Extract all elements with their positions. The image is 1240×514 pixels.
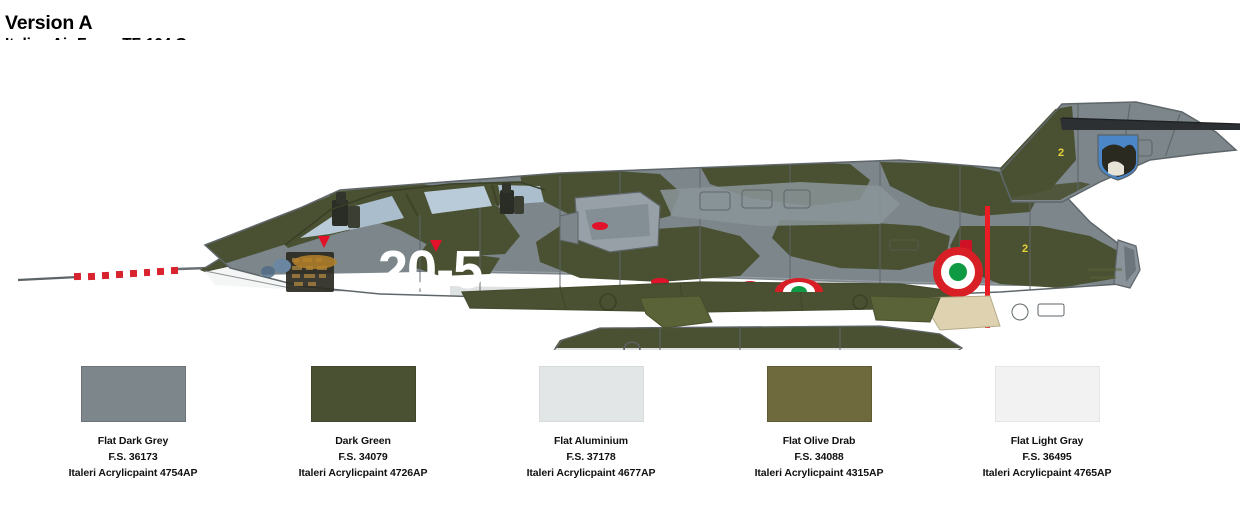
paint-swatch: Dark Green F.S. 34079 Italeri Acrylicpai… (268, 366, 458, 506)
stencil-number-1: 2 (1058, 147, 1064, 159)
paint-fs-code: F.S. 34079 (299, 450, 428, 466)
paint-fs-code: F.S. 36173 (69, 450, 198, 466)
color-chip (311, 366, 416, 422)
stencil-number-2: 2 (1022, 243, 1028, 255)
paint-name: Flat Olive Drab (755, 434, 884, 450)
paint-name: Dark Green (299, 434, 428, 450)
paint-swatch: Flat Dark Grey F.S. 36173 Italeri Acryli… (38, 366, 228, 506)
paint-product-code: Italeri Acrylicpaint 4726AP (299, 466, 428, 482)
color-chip (539, 366, 644, 422)
version-title: Version A (5, 12, 326, 35)
drop-tank (540, 326, 962, 350)
paint-name: Flat Dark Grey (69, 434, 198, 450)
paint-fs-code: F.S. 37178 (527, 450, 656, 466)
paint-swatch-row: Flat Dark Grey F.S. 36173 Italeri Acryli… (0, 366, 1240, 506)
paint-fs-code: F.S. 36495 (983, 450, 1112, 466)
national-roundel (933, 247, 983, 297)
aircraft-profile-illustration: 20-5 2 2 2 (0, 40, 1240, 350)
paint-product-code: Italeri Acrylicpaint 4315AP (755, 466, 884, 482)
fuselage-code: 20-5 (378, 240, 482, 300)
squadron-crest (1098, 135, 1138, 180)
fuselage-code-text: 20-5 (378, 240, 482, 300)
paint-fs-code: F.S. 34088 (755, 450, 884, 466)
color-chip (995, 366, 1100, 422)
paint-product-code: Italeri Acrylicpaint 4677AP (527, 466, 656, 482)
paint-product-code: Italeri Acrylicpaint 4754AP (69, 466, 198, 482)
paint-swatch: Flat Olive Drab F.S. 34088 Italeri Acryl… (724, 366, 914, 506)
painting-guide-page: Version A Italian Air Force TF-104 G 20°… (0, 0, 1240, 514)
paint-swatch: Flat Light Gray F.S. 36495 Italeri Acryl… (952, 366, 1142, 506)
paint-name: Flat Light Gray (983, 434, 1112, 450)
color-chip (81, 366, 186, 422)
paint-product-code: Italeri Acrylicpaint 4765AP (983, 466, 1112, 482)
paint-swatch: Flat Aluminium F.S. 37178 Italeri Acryli… (496, 366, 686, 506)
color-chip (767, 366, 872, 422)
paint-name: Flat Aluminium (527, 434, 656, 450)
